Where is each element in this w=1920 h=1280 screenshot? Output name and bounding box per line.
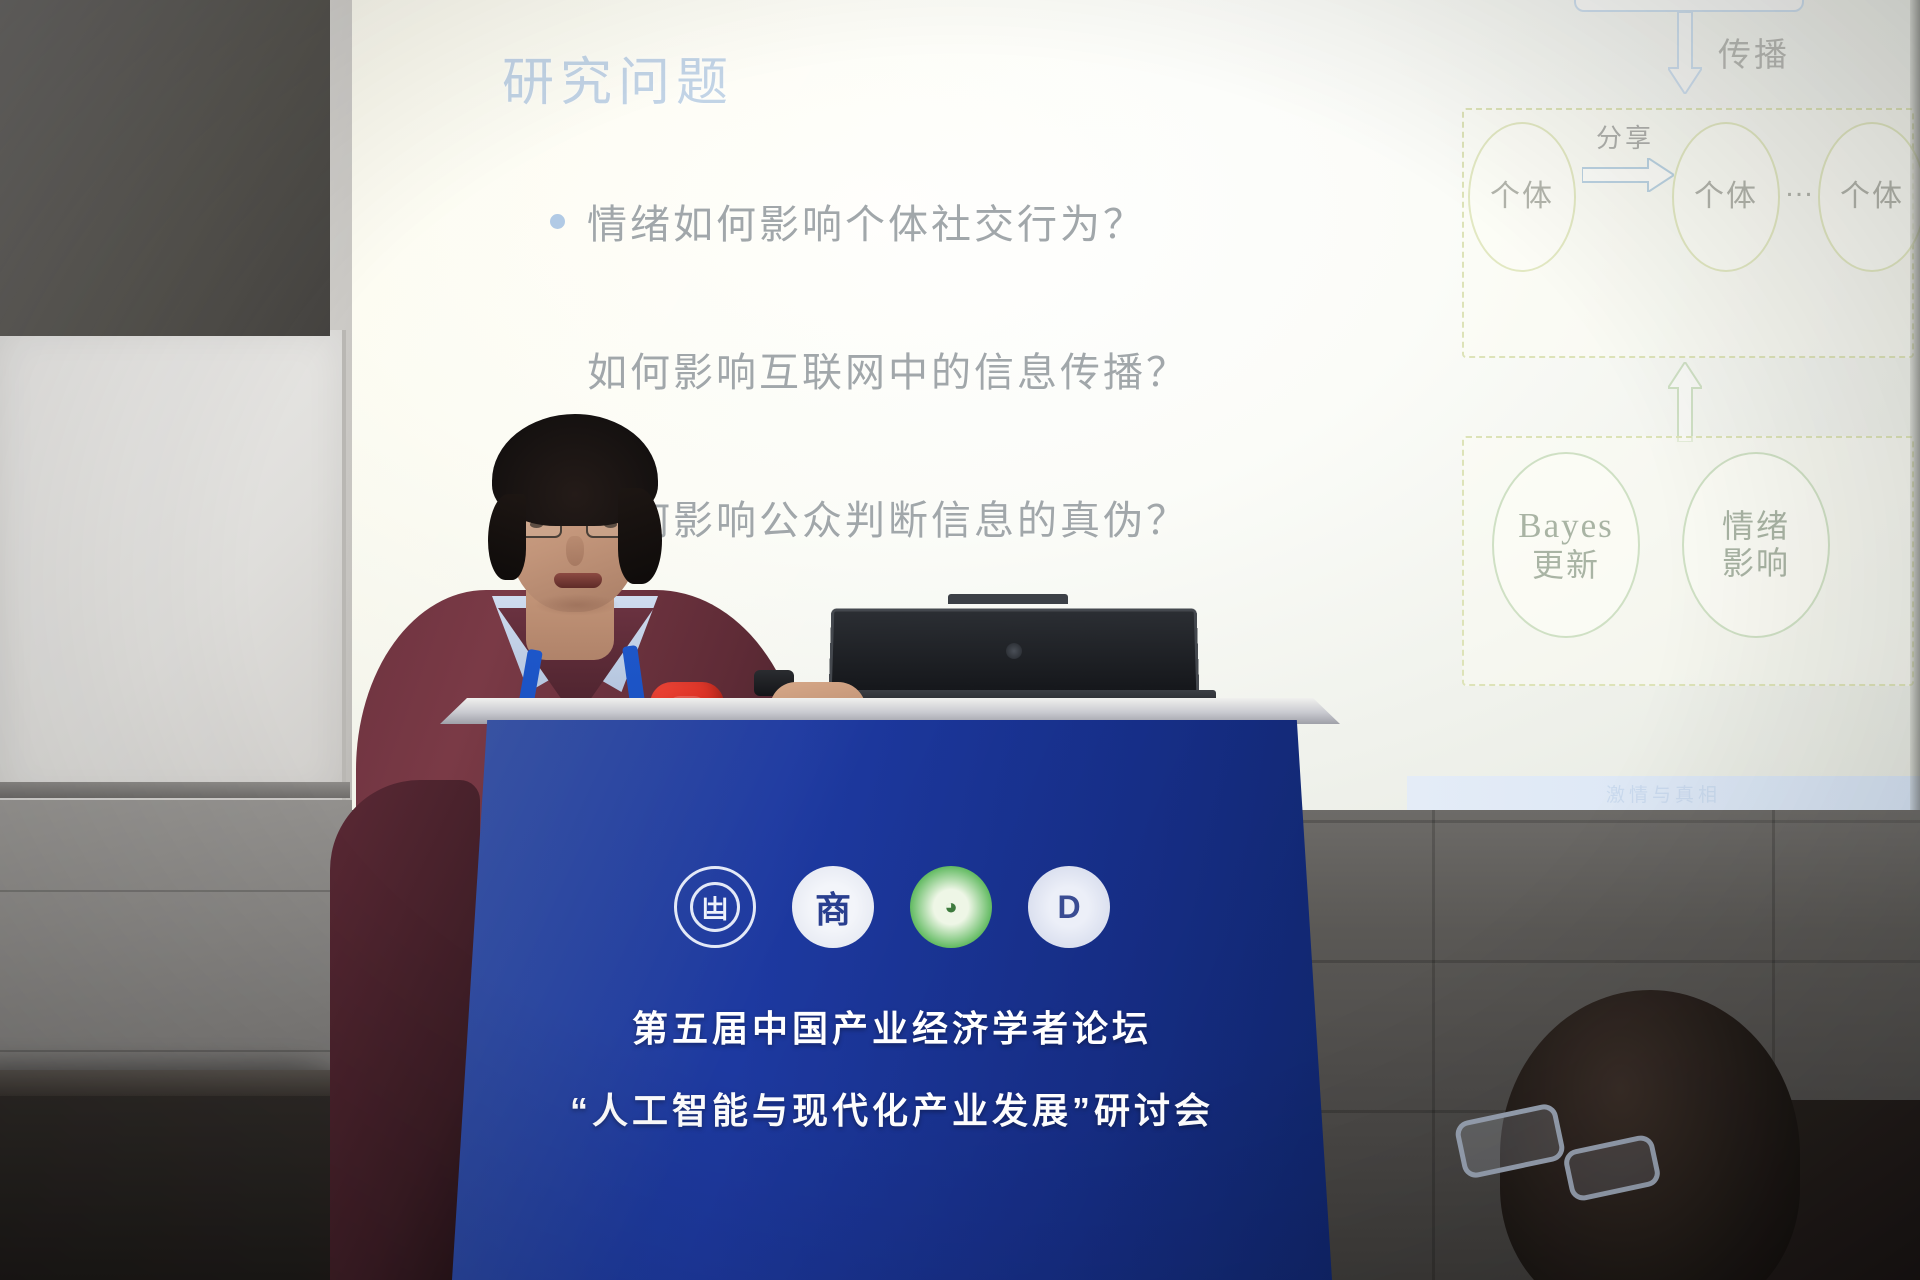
diagram-node-individual: 个体 <box>1672 122 1780 272</box>
research-center-logo: D <box>1028 866 1110 948</box>
whiteboard-tray <box>0 782 350 798</box>
diagram-top-box <box>1574 0 1804 12</box>
speaker-chin-shadow <box>534 594 620 616</box>
speaker-hair-left <box>488 494 526 580</box>
left-wall <box>0 0 360 1280</box>
speaker-mouth <box>554 573 602 588</box>
slide-footer-bar: 激情与真相 <box>1407 776 1920 810</box>
node-label-line2: 更新 <box>1532 547 1600 584</box>
bullet-dot-icon <box>550 214 565 229</box>
ningbo-university-logo: 凷 <box>674 866 756 948</box>
logo-glyph: 商 <box>815 881 851 933</box>
podium-logo-row: 凷 商 ◕ D <box>452 866 1332 948</box>
node-label: 个体 <box>1840 180 1904 215</box>
node-label: 个体 <box>1694 180 1758 215</box>
node-label: 个体 <box>1490 180 1554 215</box>
photograph-scene: 研究问题 情绪如何影响个体社交行为？ 如何影响互联网中的信息传播？ 如何影响公众… <box>0 0 1920 1280</box>
diagram-ellipsis: … <box>1784 170 1816 204</box>
laptop-screen[interactable] <box>829 609 1200 695</box>
podium-banner-text: 第五届中国产业经济学者论坛 “人工智能与现代化产业发展”研讨会 <box>452 1000 1332 1134</box>
diagram-node-bayes: Bayes 更新 <box>1492 452 1640 638</box>
speaker-hair-right <box>618 488 662 584</box>
up-arrow-icon <box>1668 362 1702 442</box>
node-label-line1: Bayes <box>1518 506 1614 546</box>
slide-title: 研究问题 <box>502 40 734 115</box>
business-school-logo: 商 <box>792 866 874 948</box>
diagram-node-individual: 个体 <box>1468 122 1576 272</box>
diagram-spread-label: 传播 <box>1718 28 1790 76</box>
conference-subtitle: “人工智能与现代化产业发展”研讨会 <box>452 1082 1332 1134</box>
diagram-node-individual: 个体 <box>1818 122 1920 272</box>
podium: 凷 商 ◕ D 第五届中国产业经济学者论坛 “人工智能与现代化产业发展”研讨会 <box>452 720 1332 1280</box>
right-arrow-icon <box>1582 158 1674 192</box>
bullet-text: 情绪如何影响个体社交行为？ <box>587 192 1146 250</box>
whiteboard <box>0 330 346 800</box>
diagram-node-emotion: 情绪 影响 <box>1682 452 1830 638</box>
speaker-nose <box>566 536 584 566</box>
logo-glyph: D <box>1057 889 1080 926</box>
screen-right-edge <box>1910 0 1920 810</box>
laptop-hinge <box>948 594 1068 604</box>
green-institute-logo: ◕ <box>910 866 992 948</box>
slide-footer-text: 激情与真相 <box>1606 780 1721 807</box>
conference-title: 第五届中国产业经济学者论坛 <box>452 1000 1332 1052</box>
diagram-share-label: 分享 <box>1596 118 1654 155</box>
wall-upper-panel <box>0 0 330 336</box>
node-label-line1: 情绪 <box>1722 508 1790 545</box>
down-arrow-icon <box>1668 12 1702 94</box>
list-item: 情绪如何影响个体社交行为？ <box>550 190 1370 252</box>
node-label-line2: 影响 <box>1722 545 1790 582</box>
logo-glyph: ◕ <box>944 894 957 920</box>
slide-diagram: 传播 个体 分享 个体 … 个体 Bayes 更新 <box>1352 0 1912 740</box>
logo-glyph: 凷 <box>702 889 728 926</box>
